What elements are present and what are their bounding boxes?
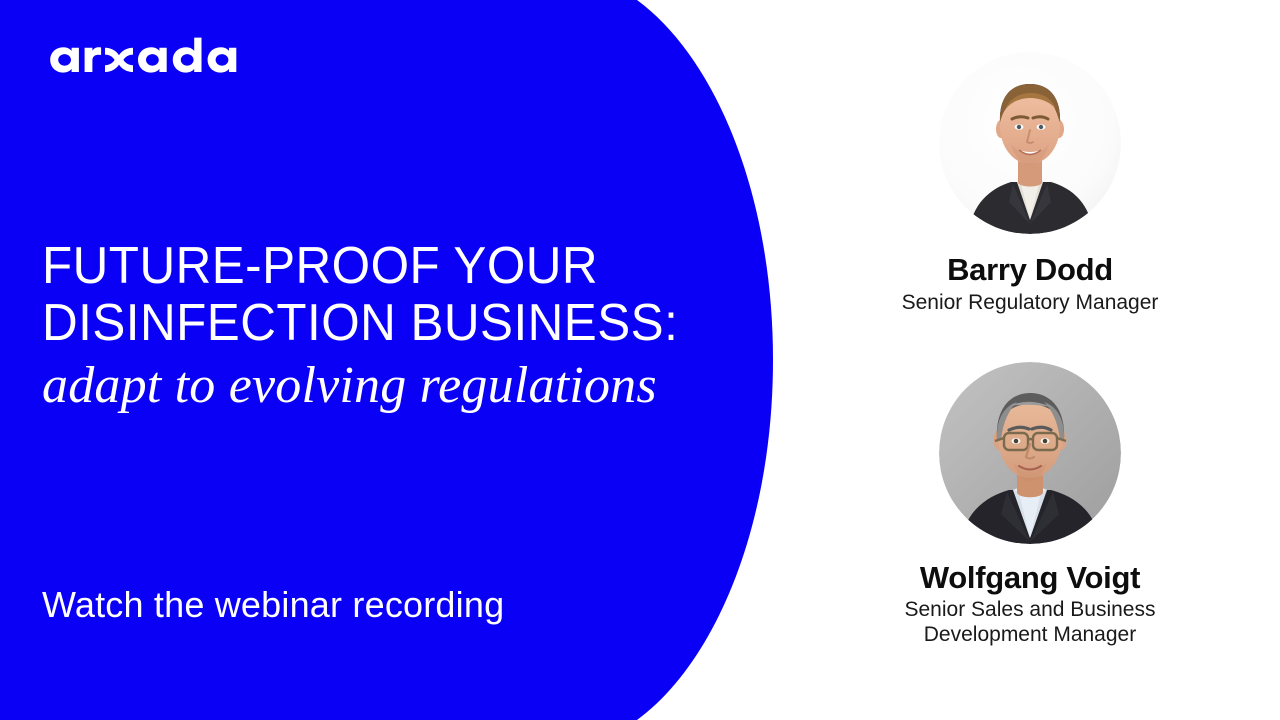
headline-block: FUTURE-PROOF YOUR DISINFECTION BUSINESS:… [42,238,742,418]
speaker-card-2: Wolfgang Voigt Senior Sales and Business… [780,362,1280,647]
speaker-meta-2: Wolfgang Voigt Senior Sales and Business… [780,560,1280,647]
speaker-role-line-1: Senior Regulatory Manager [780,290,1280,315]
speakers-panel: Barry Dodd Senior Regulatory Manager [780,0,1280,720]
speaker-name: Barry Dodd [780,252,1280,288]
arxada-wordmark-icon [48,37,248,77]
speaker-name: Wolfgang Voigt [780,560,1280,596]
left-content-panel: FUTURE-PROOF YOUR DISINFECTION BUSINESS:… [0,0,780,720]
arxada-logo[interactable] [48,36,248,78]
speaker-role-line-2: Development Manager [780,622,1280,647]
speaker-card-1: Barry Dodd Senior Regulatory Manager [780,52,1280,315]
speaker-role-line-1: Senior Sales and Business [780,597,1280,622]
speaker-photo-barry-dodd [939,52,1121,234]
speaker-meta-1: Barry Dodd Senior Regulatory Manager [780,252,1280,315]
headline-line-1: FUTURE-PROOF YOUR [42,238,707,295]
speaker-photo-wolfgang-voigt [939,362,1121,544]
promo-slide: FUTURE-PROOF YOUR DISINFECTION BUSINESS:… [0,0,1280,720]
headline-line-2: DISINFECTION BUSINESS: [42,295,707,352]
cta-watch-recording[interactable]: Watch the webinar recording [42,583,504,627]
headline-line-3-italic: adapt to evolving regulations [42,354,742,418]
